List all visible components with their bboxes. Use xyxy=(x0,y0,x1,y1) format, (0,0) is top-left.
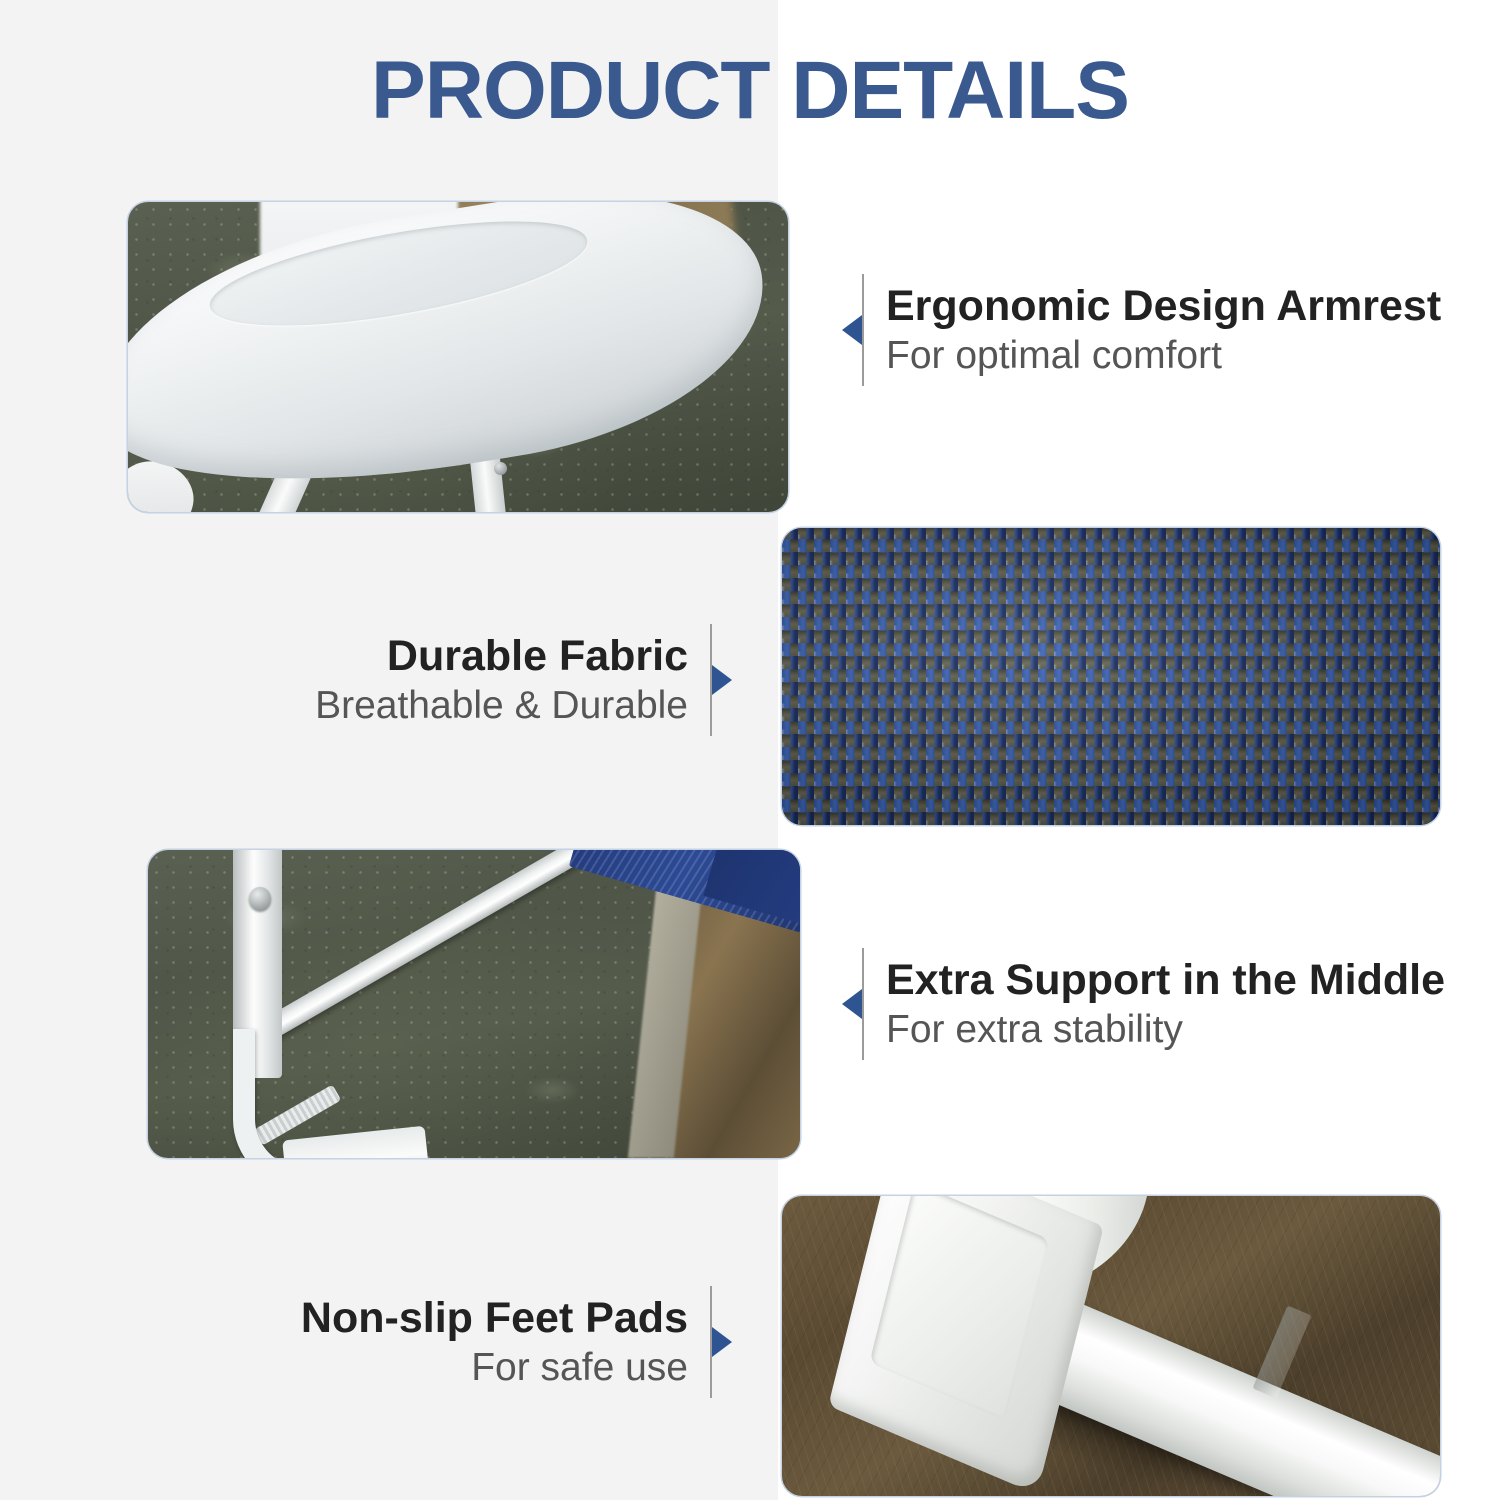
feature-subtext: Breathable & Durable xyxy=(315,684,688,728)
feature-image-armrest xyxy=(128,202,788,512)
feature-subtext: For optimal comfort xyxy=(886,334,1441,378)
photo-fabric-vignette xyxy=(782,528,1440,825)
feature-subtext: For safe use xyxy=(301,1346,688,1390)
callout-divider-line xyxy=(862,274,864,386)
callout-support: Extra Support in the Middle For extra st… xyxy=(842,948,1445,1060)
photo-frame-rivet xyxy=(249,887,271,911)
page-title: PRODUCT DETAILS xyxy=(0,44,1500,138)
triangle-right-icon xyxy=(712,665,732,695)
callout-text-armrest: Ergonomic Design Armrest For optimal com… xyxy=(886,282,1441,378)
feature-image-fabric xyxy=(782,528,1440,825)
callout-fabric: Durable Fabric Breathable & Durable xyxy=(315,624,732,736)
feature-subtext: For extra stability xyxy=(886,1008,1445,1052)
callout-divider-line xyxy=(862,948,864,1060)
feature-image-feet xyxy=(782,1196,1440,1496)
feature-headline: Extra Support in the Middle xyxy=(886,956,1445,1004)
callout-text-feet: Non-slip Feet Pads For safe use xyxy=(301,1294,688,1390)
callout-marker-armrest xyxy=(842,274,864,386)
triangle-right-icon xyxy=(712,1327,732,1357)
feature-headline: Non-slip Feet Pads xyxy=(301,1294,688,1342)
callout-marker-support xyxy=(842,948,864,1060)
callout-marker-feet xyxy=(710,1286,732,1398)
triangle-left-icon xyxy=(842,315,862,345)
callout-marker-fabric xyxy=(710,624,732,736)
callout-text-fabric: Durable Fabric Breathable & Durable xyxy=(315,632,688,728)
callout-armrest: Ergonomic Design Armrest For optimal com… xyxy=(842,274,1441,386)
feature-headline: Durable Fabric xyxy=(315,632,688,680)
callout-feet: Non-slip Feet Pads For safe use xyxy=(301,1286,732,1398)
triangle-left-icon xyxy=(842,989,862,1019)
feature-headline: Ergonomic Design Armrest xyxy=(886,282,1441,330)
feature-image-support xyxy=(148,850,800,1158)
callout-text-support: Extra Support in the Middle For extra st… xyxy=(886,956,1445,1052)
